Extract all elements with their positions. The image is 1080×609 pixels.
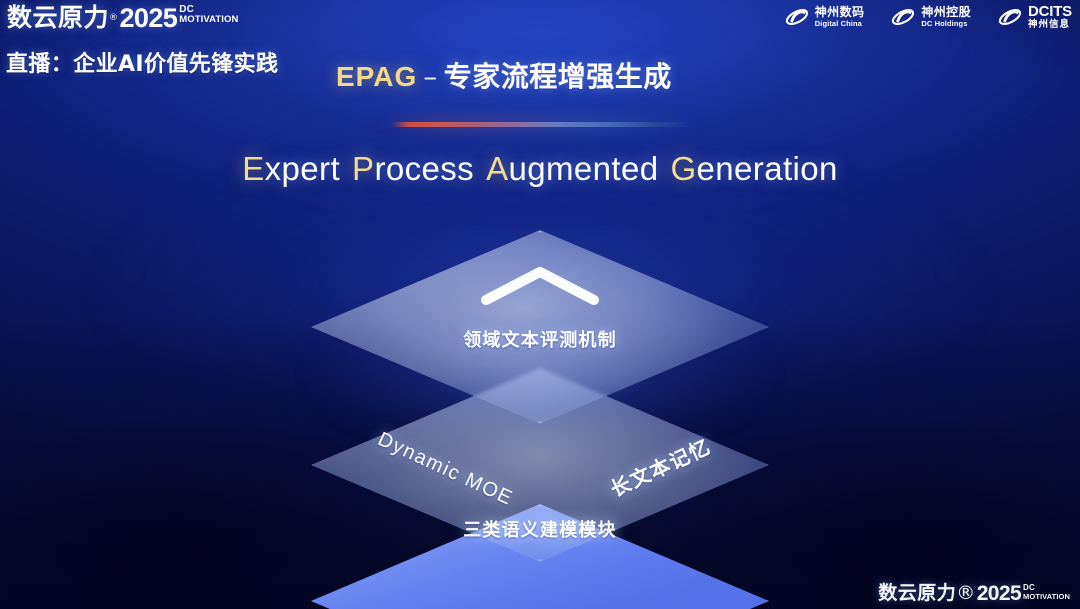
headline-acronym: EPAG [336,61,417,92]
gradient-divider [391,122,691,127]
event-logo-dc-line1: DC [179,5,238,14]
registered-trademark-icon: ® [956,582,976,605]
expansion-remainder: xpert [265,150,340,187]
expansion-word-process: Process [352,150,474,187]
event-logo-dc-line2: MOTIVATION [179,15,238,24]
partner-logo-text: 神州数码 Digital China [815,6,865,28]
chevron-up-icon [478,264,602,306]
stack-layer-top-label: 领域文本评测机制 [463,326,617,352]
partner-name-cn: 神州数码 [815,6,865,18]
partner-logo-dc-holdings: 神州控股 DC Holdings [890,4,971,30]
slide-headline: EPAG–专家流程增强生成 [336,55,672,95]
event-logo: 数云原力®2025 DC MOTIVATION [7,3,238,33]
partner-logo-dcits: DCITS 神州信息 [997,4,1072,30]
partner-name-en: DC Holdings [921,20,971,28]
partner-logo-text: DCITS 神州信息 [1028,4,1072,30]
expansion-word-generation: Generation [670,150,837,187]
event-logo-dc-motivation: DC MOTIVATION [179,5,238,24]
swirl-logo-icon [784,4,810,30]
partner-logo-digital-china: 神州数码 Digital China [784,4,865,30]
partner-name-cn: 神州控股 [921,6,971,18]
partner-name-en: Digital China [815,20,865,28]
watermark-chinese: 数云原力 [878,582,956,605]
isometric-layer-stack: 领域文本评测机制 Dynamic MOE 长文本记忆 三类语义建模模块 [0,226,1080,586]
swirl-logo-icon [890,4,916,30]
registered-trademark-icon: ® [109,3,119,33]
expansion-initial: P [352,150,374,187]
event-logo-watermark: 数云原力®2025 DC MOTIVATION [878,582,1070,605]
acronym-expansion: ExpertProcessAugmentedGeneration [0,150,1080,188]
watermark-year: 2025 [977,582,1021,605]
expansion-initial: A [486,150,508,187]
partner-logo-text: 神州控股 DC Holdings [921,6,971,28]
watermark-dc-line1: DC [1023,584,1070,592]
expansion-initial: G [670,150,696,187]
event-logo-chinese: 数云原力 [7,3,109,33]
headline-chinese: 专家流程增强生成 [444,60,672,93]
partner-logo-group: 神州数码 Digital China 神州控股 DC Holdings [784,4,1072,30]
expansion-remainder: eneration [697,150,838,187]
expansion-initial: E [242,150,264,187]
expansion-word-expert: Expert [242,150,340,187]
headline-dash: – [417,60,444,93]
partner-name-en: DCITS [1028,4,1072,19]
partner-name-cn: 神州信息 [1028,20,1072,30]
expansion-remainder: ugmented [508,150,658,187]
event-logo-year: 2025 [120,3,178,33]
live-stream-title: 直播：企业AI价值先锋实践 [6,46,278,78]
swirl-logo-icon [997,4,1023,30]
watermark-dc-motivation: DC MOTIVATION [1023,584,1070,601]
expansion-remainder: rocess [374,150,474,187]
expansion-word-augmented: Augmented [486,150,658,187]
slide-canvas: 数云原力®2025 DC MOTIVATION 直播：企业AI价值先锋实践 神州… [0,0,1080,609]
watermark-dc-line2: MOTIVATION [1023,593,1070,601]
stack-layer-bottom-label: 三类语义建模模块 [463,516,617,542]
